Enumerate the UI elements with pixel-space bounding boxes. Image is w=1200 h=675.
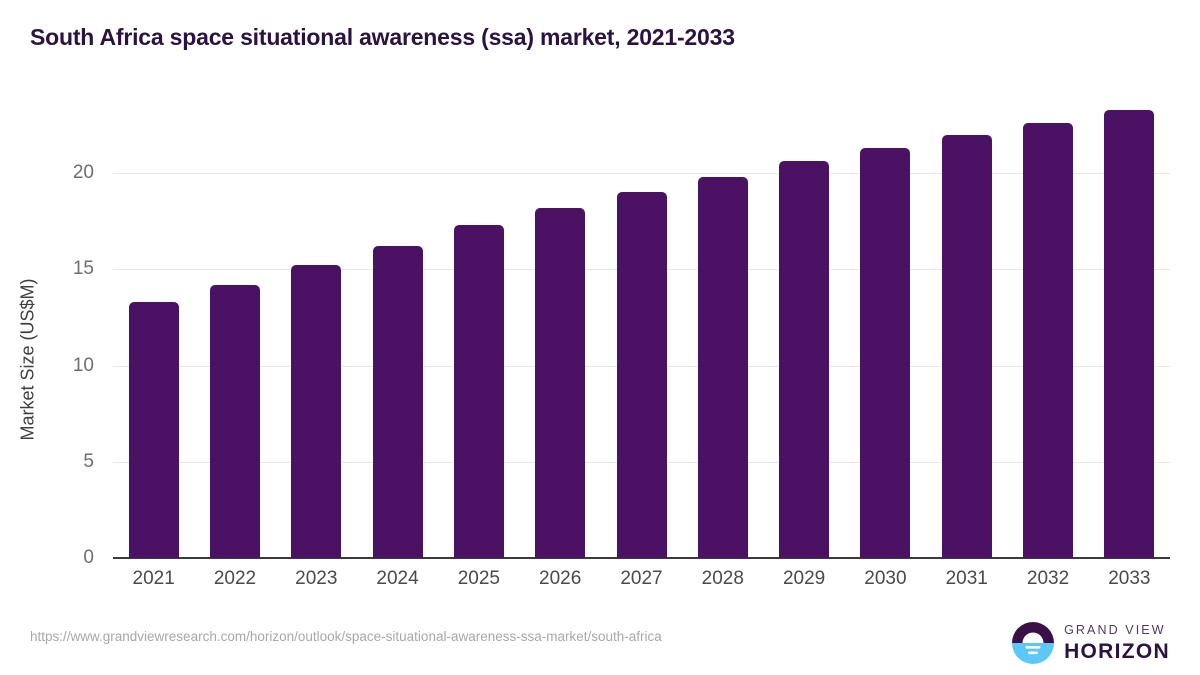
x-tick-label: 2031 <box>922 568 1012 590</box>
x-tick-label: 2024 <box>353 568 443 590</box>
x-tick-label: 2022 <box>190 568 280 590</box>
horizon-circle-icon <box>1011 621 1055 665</box>
chart-page: South Africa space situational awareness… <box>0 0 1200 675</box>
y-axis-label: Market Size (US$M) <box>18 180 39 540</box>
bar-2024[interactable] <box>373 246 423 558</box>
bar-2033[interactable] <box>1104 110 1154 558</box>
x-tick-label: 2033 <box>1084 568 1174 590</box>
x-tick-label: 2028 <box>678 568 768 590</box>
x-tick-label: 2026 <box>515 568 605 590</box>
y-tick-label: 10 <box>52 355 94 377</box>
bar-2031[interactable] <box>942 135 992 559</box>
bar-2027[interactable] <box>617 192 667 558</box>
y-axis-ticks: 05101520 <box>52 0 94 675</box>
chart-plot: 05101520 Market Size (US$M) 202120222023… <box>0 0 1200 675</box>
bar-2021[interactable] <box>129 302 179 558</box>
logo-line-grand-view: GRAND VIEW <box>1064 624 1170 637</box>
y-tick-label: 0 <box>52 547 94 569</box>
logo-line-horizon: HORIZON <box>1064 641 1170 662</box>
x-tick-label: 2032 <box>1003 568 1093 590</box>
bar-2032[interactable] <box>1023 123 1073 558</box>
source-url[interactable]: https://www.grandviewresearch.com/horizo… <box>30 629 662 644</box>
y-tick-label: 20 <box>52 162 94 184</box>
x-tick-label: 2027 <box>597 568 687 590</box>
bar-2029[interactable] <box>779 161 829 559</box>
y-tick-label: 15 <box>52 258 94 280</box>
x-tick-label: 2021 <box>109 568 199 590</box>
bar-2023[interactable] <box>291 265 341 558</box>
bar-2025[interactable] <box>454 225 504 558</box>
logo-text: GRAND VIEW HORIZON <box>1064 624 1170 662</box>
y-tick-label: 5 <box>52 451 94 473</box>
x-tick-label: 2029 <box>759 568 849 590</box>
x-tick-label: 2030 <box>840 568 930 590</box>
x-tick-label: 2023 <box>271 568 361 590</box>
bar-2022[interactable] <box>210 285 260 558</box>
grand-view-horizon-logo: GRAND VIEW HORIZON <box>1011 620 1170 666</box>
bar-2028[interactable] <box>698 177 748 558</box>
bars-group <box>113 140 1170 558</box>
x-tick-label: 2025 <box>434 568 524 590</box>
bar-2030[interactable] <box>860 148 910 558</box>
bar-2026[interactable] <box>535 208 585 558</box>
